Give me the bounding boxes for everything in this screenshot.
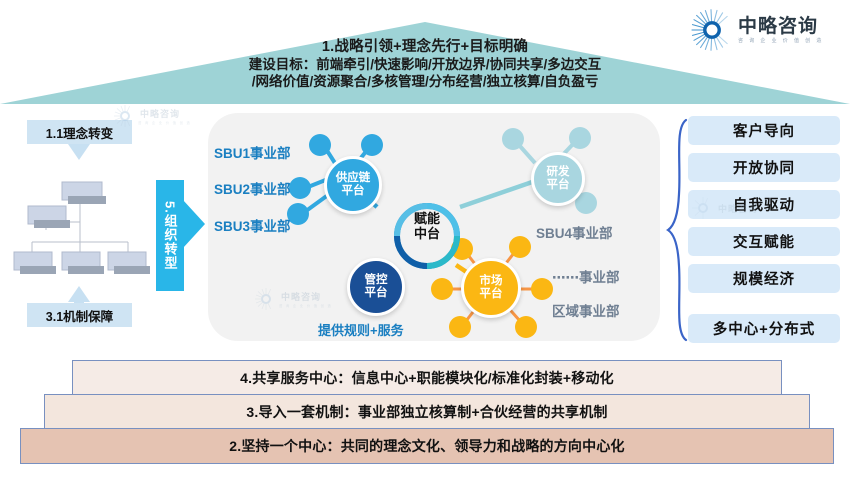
rd-platform-line1: 研发 bbox=[547, 166, 570, 179]
watermark-text: 中略咨询 咨 询 企 业 价 值 创 造 bbox=[138, 107, 191, 125]
bottom-bar-one-center[interactable]: 2.坚持一个中心：共同的理念文化、领导力和战略的方向中心化 bbox=[20, 428, 834, 464]
sbu2-label: SBU2事业部 bbox=[214, 178, 291, 198]
arrow-down-icon bbox=[68, 144, 90, 160]
bottom-bar-shared-service-center[interactable]: 4.共享服务中心：信息中心+职能模块化/标准化封装+移动化 bbox=[72, 360, 782, 395]
bottom-bar-mechanism[interactable]: 3.导入一套机制：事业部独立核算制+合伙经营的共享机制 bbox=[44, 394, 810, 429]
curly-brace-icon bbox=[666, 116, 688, 344]
watermark-subtitle: 咨 询 企 业 价 值 创 造 bbox=[138, 120, 191, 125]
principle-item-open-collaboration[interactable]: 开放协同 bbox=[688, 153, 840, 182]
market-platform-line2: 平台 bbox=[480, 288, 503, 301]
rd-platform-node[interactable]: 研发 平台 bbox=[531, 152, 585, 206]
rd-platform-line2: 平台 bbox=[547, 179, 570, 192]
idea-transformation-box[interactable]: 1.1理念转变 bbox=[27, 120, 132, 144]
banner-subline-2: /网络价值/资源聚合/多核管理/分布经营/独立核算/自负盈亏 bbox=[0, 73, 850, 90]
org-transformation-label: 5.组织转型 bbox=[163, 201, 178, 270]
regional-division-label: 区域事业部 bbox=[552, 300, 620, 320]
supply-chain-platform-node[interactable]: 供应链 平台 bbox=[324, 156, 382, 214]
org-transformation-arrow[interactable]: 5.组织转型 bbox=[156, 180, 184, 291]
supply-chain-platform-line2: 平台 bbox=[342, 185, 365, 198]
control-platform-node[interactable]: 管控 平台 bbox=[347, 258, 405, 316]
supply-chain-platform-line1: 供应链 bbox=[336, 172, 371, 185]
other-divisions-label: ⋯⋯事业部 bbox=[552, 266, 620, 286]
logo-title: 中略咨询 bbox=[738, 17, 824, 36]
org-chart-icon bbox=[10, 178, 150, 290]
mechanism-guarantee-box[interactable]: 3.1机制保障 bbox=[27, 303, 132, 327]
principle-item-scale-economy[interactable]: 规模经济 bbox=[688, 264, 840, 293]
control-platform-line2: 平台 bbox=[365, 287, 388, 300]
watermark-title: 中略咨询 bbox=[140, 107, 191, 120]
control-platform-caption: 提供规则+服务 bbox=[318, 320, 404, 339]
sbu4-label: SBU4事业部 bbox=[536, 222, 613, 242]
empowerment-center-node[interactable]: 赋能 中台 bbox=[394, 193, 460, 259]
principle-item-multicenter-distributed[interactable]: 多中心+分布式 bbox=[688, 314, 840, 343]
banner-heading: 1.战略引领+理念先行+目标明确 bbox=[0, 38, 850, 56]
market-platform-node[interactable]: 市场 平台 bbox=[461, 258, 521, 318]
principle-item-interactive-empowerment[interactable]: 交互赋能 bbox=[688, 227, 840, 256]
slide-canvas: 中略咨询 咨 询 企 业 价 值 创 造 1.战略引领+理念先行+目标明确 建设… bbox=[0, 0, 850, 487]
sbu3-label: SBU3事业部 bbox=[214, 215, 291, 235]
principle-item-customer-orientation[interactable]: 客户导向 bbox=[688, 116, 840, 145]
market-platform-line1: 市场 bbox=[480, 275, 503, 288]
empowerment-center-line2: 中台 bbox=[414, 226, 440, 241]
banner-text-block: 1.战略引领+理念先行+目标明确 建设目标：前端牵引/快速影响/开放边界/协同共… bbox=[0, 38, 850, 90]
transform-arrow-head-icon bbox=[183, 200, 205, 248]
banner-subline-1: 建设目标：前端牵引/快速影响/开放边界/协同共享/多边交互 bbox=[0, 56, 850, 73]
principle-item-self-driven[interactable]: 自我驱动 bbox=[688, 190, 840, 219]
empowerment-center-line1: 赋能 bbox=[414, 211, 440, 226]
control-platform-line1: 管控 bbox=[365, 274, 388, 287]
sbu1-label: SBU1事业部 bbox=[214, 142, 291, 162]
